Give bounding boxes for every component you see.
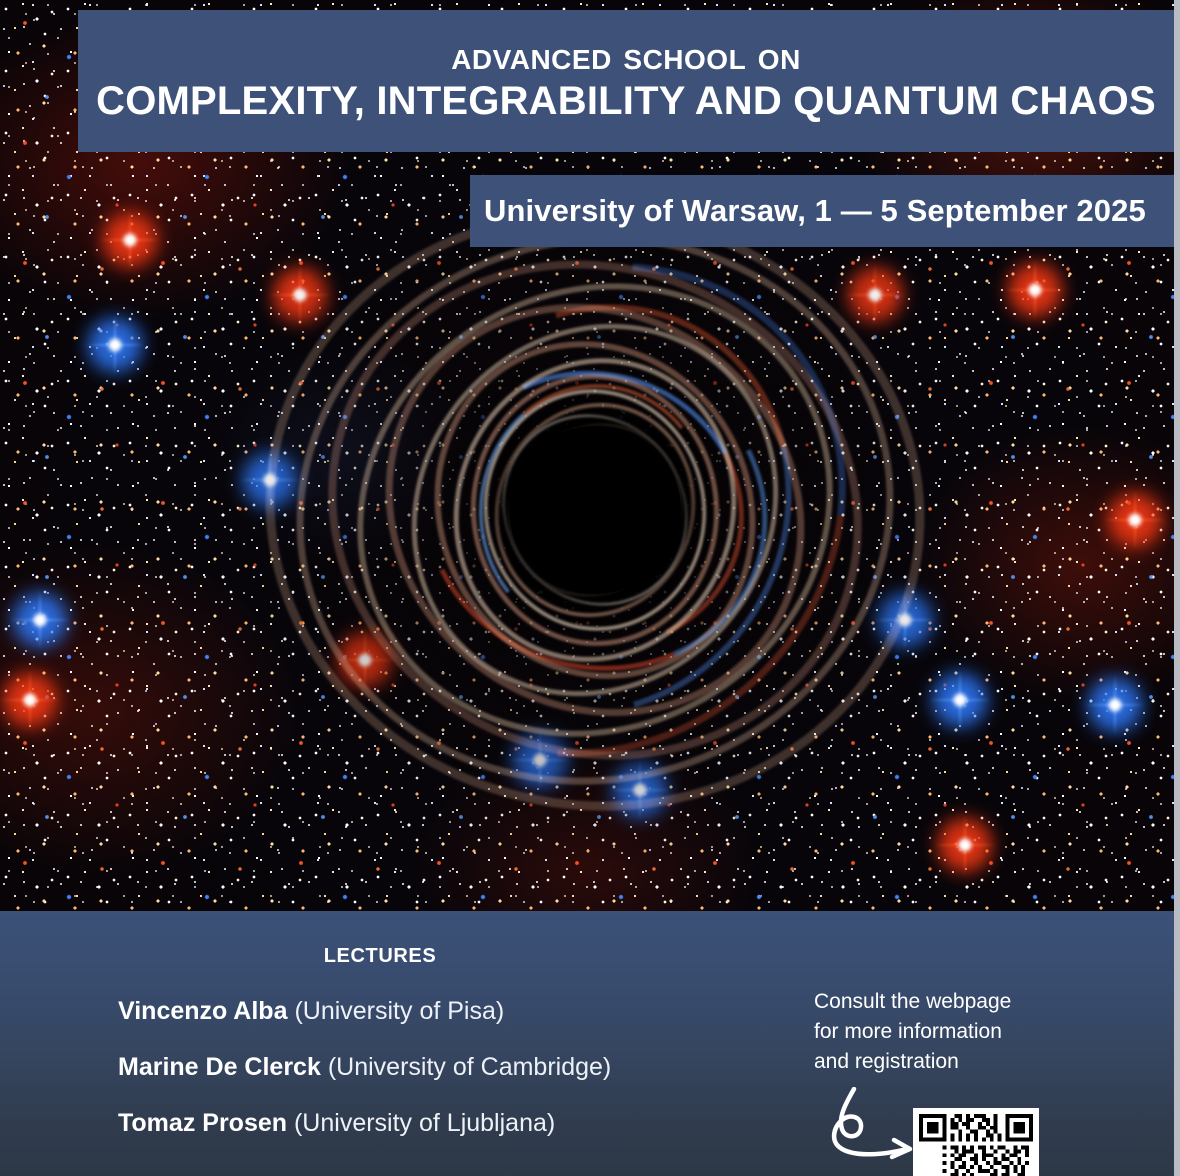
callout-line-3: and registration [814, 1047, 1114, 1077]
list-item: Tomaz Prosen (University of Ljubljana) [118, 1111, 818, 1136]
lecturer-affiliation: (University of Cambridge) [328, 1053, 611, 1081]
list-item: Marine De Clerck (University of Cambridg… [118, 1055, 818, 1080]
date-venue-banner: University of Warsaw, 1 — 5 September 20… [470, 175, 1174, 247]
bottom-info-panel: Lectures Vincenzo Alba (University of Pi… [0, 911, 1174, 1176]
lecturer-name: Vincenzo Alba [118, 997, 287, 1025]
lecturers-list: Vincenzo Alba (University of Pisa) Marin… [118, 999, 818, 1167]
callout-line-2: for more information [814, 1017, 1114, 1047]
lecturer-name: Tomaz Prosen [118, 1109, 287, 1137]
lectures-heading: Lectures [0, 937, 760, 970]
callout-line-1: Consult the webpage [814, 987, 1114, 1017]
conference-poster: Advanced school on Complexity, integrabi… [0, 0, 1174, 1176]
event-horizon-shadow [509, 426, 681, 594]
poster-title-line-2: Complexity, integrability and quantum ch… [96, 79, 1156, 124]
lecturer-affiliation: (University of Ljubljana) [294, 1109, 555, 1137]
curly-arrow-icon [820, 1087, 925, 1167]
qr-code[interactable] [913, 1108, 1039, 1176]
list-item: Vincenzo Alba (University of Pisa) [118, 999, 818, 1024]
date-venue-text: University of Warsaw, 1 — 5 September 20… [484, 193, 1146, 229]
title-banner: Advanced school on Complexity, integrabi… [78, 10, 1174, 152]
registration-callout: Consult the webpage for more information… [814, 987, 1114, 1076]
lecturer-name: Marine De Clerck [118, 1053, 321, 1081]
lecturer-affiliation: (University of Pisa) [294, 997, 504, 1025]
poster-title-line-1: Advanced school on [451, 34, 801, 79]
